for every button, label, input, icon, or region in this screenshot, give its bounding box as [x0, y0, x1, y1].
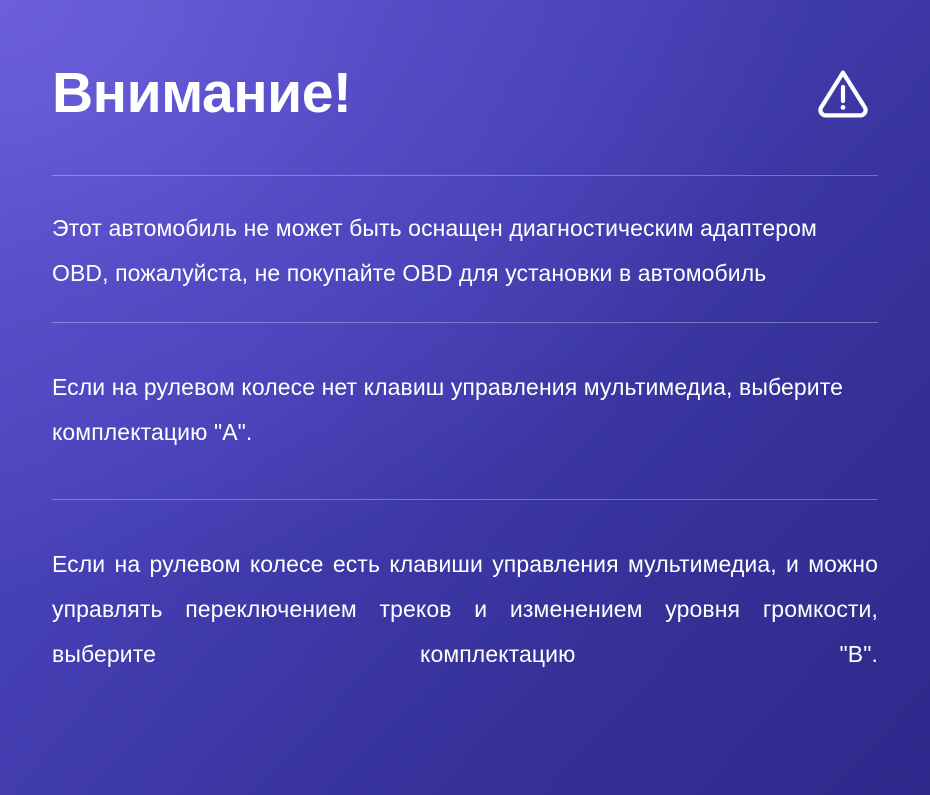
notice-block-obd: Этот автомобиль не может быть оснащен ди… [0, 176, 930, 322]
notice-block-trim-b: Если на рулевом колесе есть клавиши упра… [0, 500, 930, 762]
notice-text-trim-b: Если на рулевом колесе есть клавиши упра… [52, 542, 878, 722]
card-header: Внимание! [0, 0, 930, 175]
page-title: Внимание! [52, 53, 351, 122]
notice-text-obd: Этот автомобиль не может быть оснащен ди… [52, 206, 878, 296]
warning-notice-card: Внимание! Этот автомобиль не может быть … [0, 0, 930, 795]
notice-block-trim-a: Если на рулевом колесе нет клавиш управл… [0, 323, 930, 499]
warning-triangle-icon [814, 63, 872, 121]
notice-text-trim-a: Если на рулевом колесе нет клавиш управл… [52, 365, 878, 455]
